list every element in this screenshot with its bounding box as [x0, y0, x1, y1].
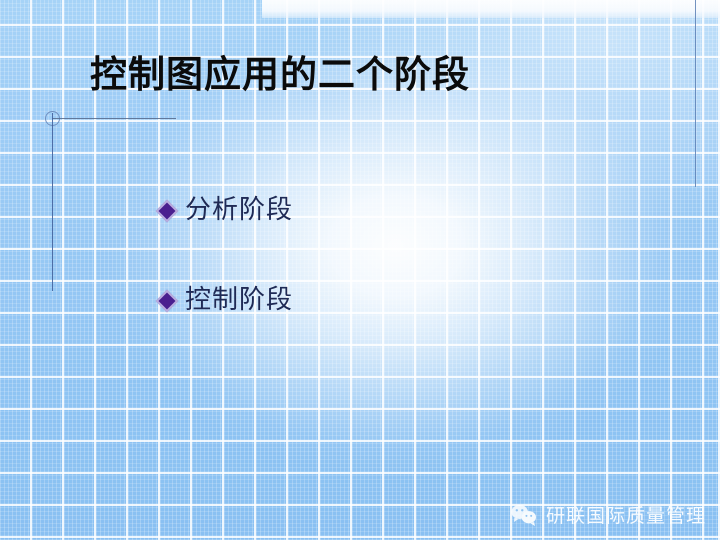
top-white-band [262, 0, 720, 18]
decorative-horizontal-line [52, 118, 176, 119]
decorative-vertical-line-right [695, 0, 696, 187]
bullet-list: 分析阶段 控制阶段 [158, 190, 558, 370]
decorative-vertical-line-left [52, 113, 53, 291]
list-item: 控制阶段 [158, 280, 558, 320]
slide-title: 控制图应用的二个阶段 [90, 54, 470, 97]
watermark: 研联国际质量管理 [510, 501, 706, 528]
list-item-label: 分析阶段 [185, 197, 293, 223]
wechat-icon [510, 503, 538, 527]
list-item: 分析阶段 [158, 190, 558, 230]
diamond-bullet-icon [158, 292, 175, 309]
presentation-slide: 控制图应用的二个阶段 分析阶段 控制阶段 研联国际质量管理 [0, 0, 720, 540]
watermark-label: 研联国际质量管理 [546, 501, 706, 528]
diamond-bullet-icon [158, 202, 175, 219]
list-item-label: 控制阶段 [185, 287, 293, 313]
